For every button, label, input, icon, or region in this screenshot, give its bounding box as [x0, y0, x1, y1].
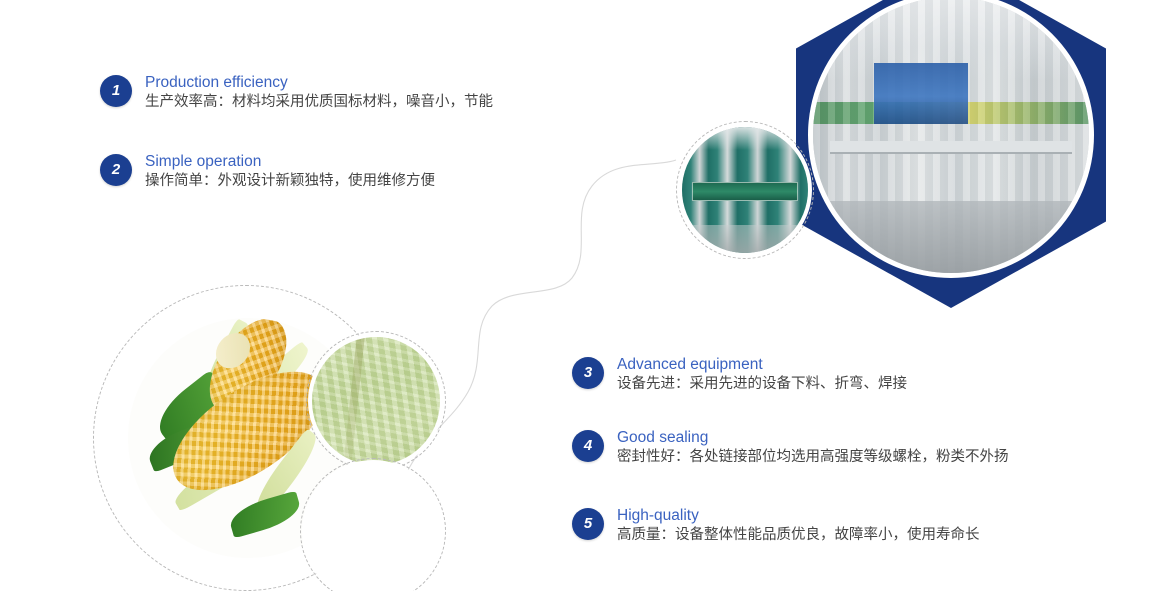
feature-desc-2: 操作简单：外观设计新颖独特，使用维修方便 — [145, 171, 435, 192]
feature-badge-1: 1 — [100, 75, 132, 107]
orange-corn-grits-photo — [306, 464, 440, 591]
feature-number-5: 5 — [572, 508, 604, 540]
feature-item-1[interactable]: 1 Production efficiency 生产效率高：材料均采用优质国标材… — [100, 73, 493, 113]
green-corn-paste-photo — [312, 337, 440, 465]
factory-plant-photo — [813, 0, 1089, 273]
infographic-canvas: 1 Production efficiency 生产效率高：材料均采用优质国标材… — [0, 0, 1154, 591]
feature-title-5: High-quality — [617, 506, 980, 525]
feature-item-3[interactable]: 3 Advanced equipment 设备先进：采用先进的设备下料、折弯、焊… — [572, 355, 907, 395]
feature-item-4[interactable]: 4 Good sealing 密封性好：各处链接部位均选用高强度等级螺栓，粉类不… — [572, 428, 1009, 468]
feature-desc-3: 设备先进：采用先进的设备下料、折弯、焊接 — [617, 374, 907, 395]
feature-title-3: Advanced equipment — [617, 355, 907, 374]
feature-number-3: 3 — [572, 357, 604, 389]
feature-title-2: Simple operation — [145, 152, 435, 171]
feature-item-2[interactable]: 2 Simple operation 操作简单：外观设计新颖独特，使用维修方便 — [100, 152, 435, 192]
feature-desc-5: 高质量：设备整体性能品质优良，故障率小，使用寿命长 — [617, 525, 980, 546]
feature-badge-4: 4 — [572, 430, 604, 462]
feature-number-1: 1 — [100, 75, 132, 107]
feature-badge-3: 3 — [572, 357, 604, 389]
feature-desc-1: 生产效率高：材料均采用优质国标材料，噪音小，节能 — [145, 92, 493, 113]
feature-number-2: 2 — [100, 154, 132, 186]
feature-item-5[interactable]: 5 High-quality 高质量：设备整体性能品质优良，故障率小，使用寿命长 — [572, 506, 980, 546]
feature-desc-4: 密封性好：各处链接部位均选用高强度等级螺栓，粉类不外扬 — [617, 447, 1009, 468]
feature-title-1: Production efficiency — [145, 73, 493, 92]
feature-badge-2: 2 — [100, 154, 132, 186]
corn-processing-line-photo — [682, 127, 808, 253]
feature-title-4: Good sealing — [617, 428, 1009, 447]
hexagon-photo-frame — [796, 0, 1106, 308]
feature-badge-5: 5 — [572, 508, 604, 540]
feature-number-4: 4 — [572, 430, 604, 462]
